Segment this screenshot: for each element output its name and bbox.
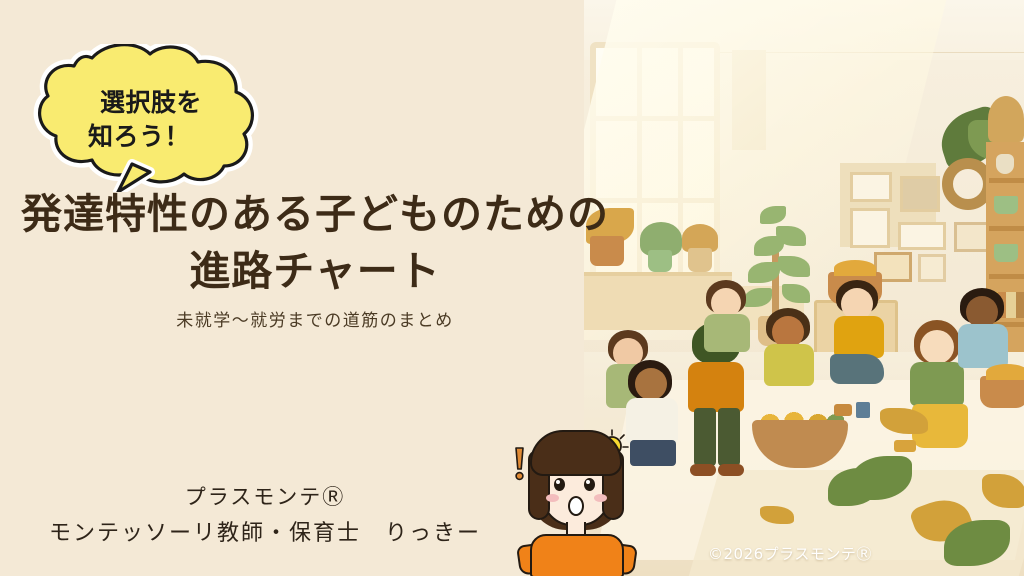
wall-frame — [850, 172, 892, 202]
callout-text: 選択肢を 知ろう！ — [14, 44, 274, 192]
shelf-basket — [994, 196, 1018, 214]
wall-frame — [900, 176, 940, 212]
poster-canvas: ©2026プラスモンテⓇ 選択肢を 知ろう！ 発達特性のある子どものための 進路… — [0, 0, 1024, 576]
wall-frame — [918, 254, 946, 282]
callout-line-1: 選択肢を — [100, 86, 202, 121]
photo-illustration: ©2026プラスモンテⓇ — [584, 0, 1024, 576]
page-title: 発達特性のある子どものための 進路チャート — [0, 186, 630, 299]
photo-copyright: ©2026プラスモンテⓇ — [708, 543, 872, 564]
author-credential: モンテッソーリ教師・保育士 りっきー — [0, 515, 530, 547]
illustrated-girl-avatar — [508, 424, 648, 576]
shelf-basket — [994, 244, 1018, 262]
dried-palm-icon — [988, 96, 1024, 142]
hair-fringe — [530, 430, 622, 476]
wooden-block — [894, 440, 916, 452]
produce-basket — [980, 376, 1024, 408]
cheek-blush-right — [594, 494, 607, 502]
plant-pot — [648, 250, 672, 272]
classroom-children-photo: ©2026プラスモンテⓇ — [584, 0, 1024, 576]
vase — [996, 154, 1014, 174]
title-line-1: 発達特性のある子どものための — [0, 186, 630, 243]
cheek-blush-left — [546, 494, 559, 502]
eye-right — [584, 478, 595, 491]
callout-line-2: 知ろう！ — [28, 120, 190, 155]
mouth — [568, 496, 584, 516]
plant-pot — [688, 248, 712, 272]
shirt — [530, 534, 624, 576]
page-subtitle: 未就学〜就労までの道筋のまとめ — [0, 306, 630, 331]
wall-frame — [898, 222, 946, 250]
wall-frame — [850, 208, 890, 248]
title-line-2: 進路チャート — [0, 243, 630, 300]
exclamation-icon — [514, 446, 525, 482]
cup — [856, 402, 870, 418]
brand-name: プラスモンテⓇ — [0, 481, 530, 511]
speech-bubble-callout: 選択肢を 知ろう！ — [14, 44, 274, 192]
eye-left — [554, 478, 565, 491]
wooden-block — [834, 404, 852, 416]
